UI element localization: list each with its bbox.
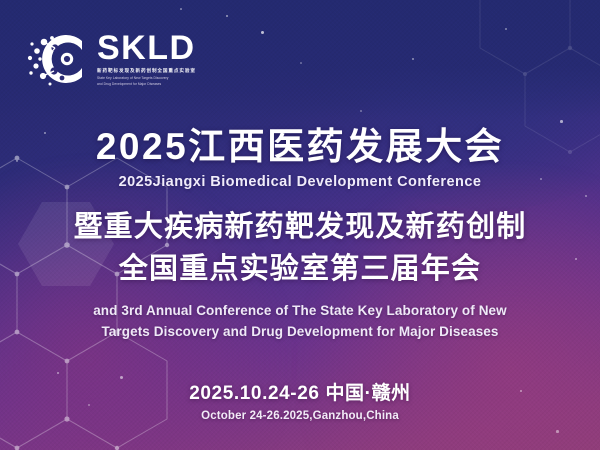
sub-title-english-line1: and 3rd Annual Conference of The State K… bbox=[0, 301, 600, 321]
skld-molecular-c-icon bbox=[26, 28, 92, 90]
conference-poster: SKLD 新药靶标发现及新药创制全国重点实验室 State Key Labora… bbox=[0, 0, 600, 450]
sub-title-chinese-line2: 全国重点实验室第三届年会 bbox=[0, 250, 600, 289]
sub-title-chinese-line1: 暨重大疾病新药靶发现及新药创制 bbox=[0, 208, 600, 247]
main-title-chinese: 2025江西医药发展大会 bbox=[0, 126, 600, 167]
date-location-chinese: 2025.10.24-26 中国·赣州 bbox=[0, 378, 600, 405]
logo-english-name-line2: and Drug Development for Major Diseases bbox=[97, 82, 196, 87]
title-block: 2025江西医药发展大会 2025Jiangxi Biomedical Deve… bbox=[0, 126, 600, 342]
sub-title-english-line2: Targets Discovery and Drug Development f… bbox=[0, 322, 600, 342]
logo: SKLD 新药靶标发现及新药创制全国重点实验室 State Key Labora… bbox=[26, 28, 196, 90]
logo-text-block: SKLD 新药靶标发现及新药创制全国重点实验室 State Key Labora… bbox=[97, 31, 196, 87]
main-title-english: 2025Jiangxi Biomedical Development Confe… bbox=[0, 174, 600, 190]
footer-block: 2025.10.24-26 中国·赣州 October 24-26.2025,G… bbox=[0, 378, 600, 422]
logo-english-name-line1: State Key Laboratory of New Targets Disc… bbox=[97, 76, 196, 81]
date-location-english: October 24-26.2025,Ganzhou,China bbox=[0, 410, 600, 422]
logo-chinese-name: 新药靶标发现及新药创制全国重点实验室 bbox=[97, 68, 196, 74]
logo-wordmark: SKLD bbox=[97, 31, 196, 65]
